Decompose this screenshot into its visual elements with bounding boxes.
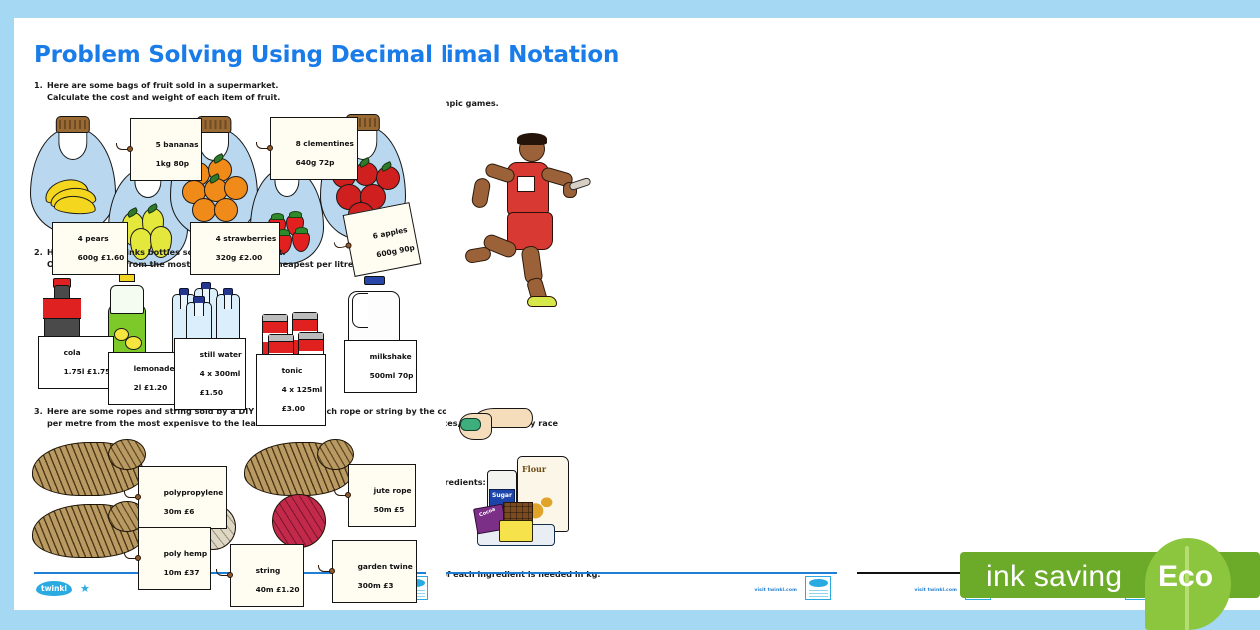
- question-text-1-line1: Here are some bags of fruit sold in a su…: [47, 80, 279, 91]
- baking-ingredients-illustration: Flour: [473, 450, 587, 558]
- rope-jute: [244, 442, 352, 496]
- fruit-tag-name: 5 bananas: [156, 140, 199, 149]
- fruit-tag-pears: 4 pears 600g £1.60: [52, 222, 128, 275]
- rope-tag-name: polypropylene: [164, 488, 224, 497]
- visit-twinkl-link[interactable]: visit twinkl.com: [754, 588, 797, 593]
- rope-tag-jute: jute rope 50m £5: [348, 464, 416, 527]
- visit-twinkl-link[interactable]: visit twinkl.com: [914, 588, 957, 593]
- fruit-bag-bananas: [30, 114, 116, 234]
- drink-label-line1: tonic: [282, 366, 303, 375]
- worksheet-page-2[interactable]: ecimal Notation lympic games.: [425, 18, 857, 610]
- runner-illustration: [467, 136, 597, 306]
- eco-badge-label-light: ink saving: [986, 560, 1122, 594]
- eco-badge-label-bold: Eco: [1158, 560, 1213, 594]
- question-text-3-line1: Here are some ropes and string sold by a…: [47, 406, 446, 417]
- drink-label-line2: 2l £1.20: [134, 383, 168, 392]
- rope-garden-twine-ball: [272, 494, 326, 548]
- rope-tag-name: jute rope: [374, 486, 412, 495]
- footer-worksheet-icon: [805, 576, 831, 600]
- drink-label-line3: £1.50: [200, 388, 223, 397]
- drink-label-line2: 500ml 70p: [370, 371, 414, 380]
- fruit-tag-name: 6 apples: [372, 225, 408, 241]
- drink-label-line1: still water: [200, 350, 242, 359]
- twinkl-logo[interactable]: twinkl: [36, 581, 72, 596]
- rope-tag-detail: 30m £6: [164, 507, 195, 516]
- rope-polypropylene: [32, 442, 144, 496]
- drink-label-cola: cola 1.75l £1.75: [38, 336, 114, 389]
- page-title: Problem Solving Using Decimal Notation: [34, 42, 446, 68]
- question-text-3-line2: per metre from the most expenisve to the…: [47, 418, 268, 429]
- rope-tag-garden-twine: garden twine 300m £3: [332, 540, 417, 603]
- rope-tag-poly-hemp: poly hemp 10m £37: [138, 527, 211, 590]
- rope-tag-name: poly hemp: [164, 549, 208, 558]
- fruit-tag-detail: 600g £1.60: [78, 253, 125, 262]
- flour-label: Flour: [522, 464, 546, 474]
- question-text-1-line2: Calculate the cost and weight of each it…: [47, 92, 280, 103]
- rope-tag-string: string 40m £1.20: [230, 544, 304, 607]
- drink-label-line3: £3.00: [282, 404, 305, 413]
- rope-tag-name: garden twine: [358, 562, 413, 571]
- drink-label-tonic: tonic 4 x 125ml £3.00: [256, 354, 326, 426]
- rope-tag-detail: 10m £37: [164, 568, 200, 577]
- fruit-tag-detail: 640g 72p: [296, 158, 335, 167]
- drink-label-line2: 4 x 125ml: [282, 385, 323, 394]
- fruit-tag-name: 8 clementines: [296, 139, 354, 148]
- fruit-tag-bananas: 5 bananas 1kg 80p: [130, 118, 202, 181]
- rope-poly-hemp: [32, 504, 144, 558]
- rope-tag-name: string: [256, 566, 281, 575]
- question-number-3: 3.: [34, 406, 43, 416]
- fruit-tag-apples: 6 apples 600g 90p: [343, 202, 422, 277]
- fruit-tag-detail: 320g £2.00: [216, 253, 263, 262]
- rope-tag-detail: 40m £1.20: [256, 585, 300, 594]
- drink-label-line1: lemonade: [134, 364, 175, 373]
- fruit-tag-detail: 1kg 80p: [156, 159, 190, 168]
- star-icon: ★: [80, 583, 90, 594]
- fruit-tag-name: 4 pears: [78, 234, 109, 243]
- rope-tag-detail: 50m £5: [374, 505, 405, 514]
- drink-label-line1: cola: [64, 348, 81, 357]
- fruit-tag-detail: 600g 90p: [376, 243, 416, 259]
- drink-label-line2: 4 x 300ml: [200, 369, 241, 378]
- rope-tag-detail: 300m £3: [358, 581, 394, 590]
- footer-divider: [445, 572, 837, 574]
- fruit-tag-name: 4 strawberries: [216, 234, 277, 243]
- fruit-tag-clementines: 8 clementines 640g 72p: [270, 117, 358, 180]
- rope-tag-polypropylene: polypropylene 30m £6: [138, 466, 227, 529]
- drink-label-line2: 1.75l £1.75: [64, 367, 111, 376]
- question-number-1: 1.: [34, 80, 43, 90]
- fruit-tag-strawberries: 4 strawberries 320g £2.00: [190, 222, 280, 275]
- worksheet-page-1[interactable]: Problem Solving Using Decimal Notation 1…: [14, 18, 446, 610]
- question-number-2: 2.: [34, 247, 43, 257]
- drink-label-lemonade: lemonade 2l £1.20: [108, 352, 178, 405]
- ink-saving-eco-badge: ink saving Eco: [960, 544, 1260, 604]
- screenshot-stage: Problem Solving Using Decimal Notation 1…: [0, 0, 1260, 630]
- drink-label-milkshake: milkshake 500ml 70p: [344, 340, 417, 393]
- page-fragment: a of each ingredient is needed in kg.: [433, 569, 600, 580]
- drink-label-still-water: still water 4 x 300ml £1.50: [174, 338, 246, 410]
- page-title: ecimal Notation: [425, 42, 619, 68]
- drink-label-line1: milkshake: [370, 352, 412, 361]
- hand-baton-illustration: [459, 400, 533, 444]
